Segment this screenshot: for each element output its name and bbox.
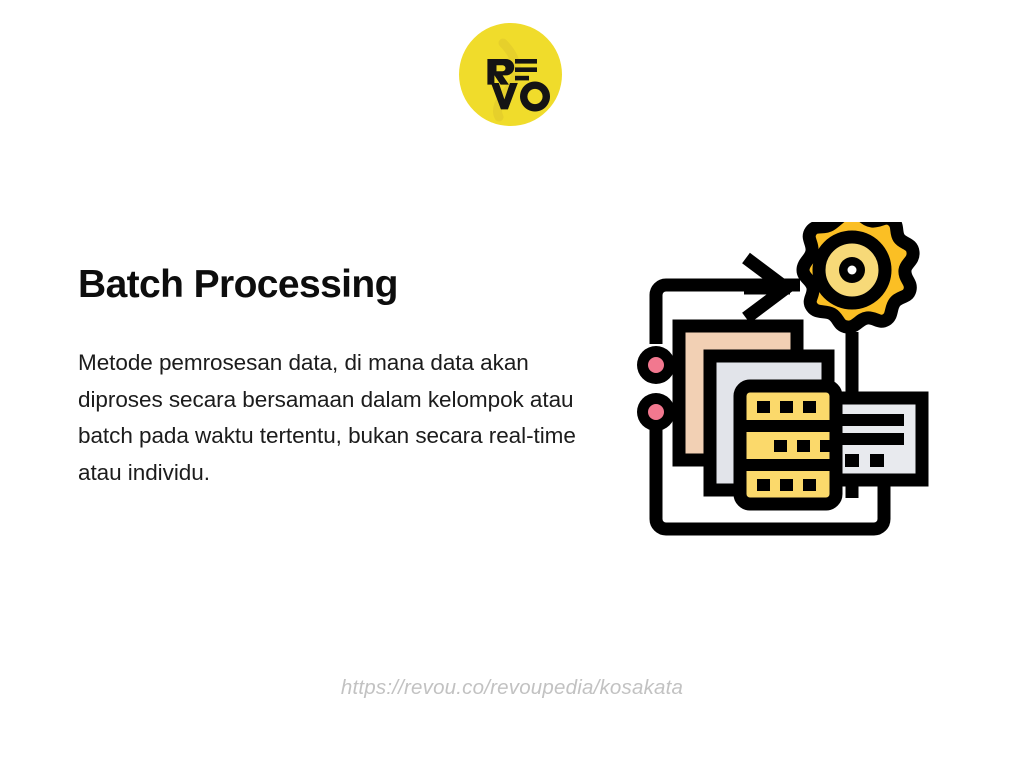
page-description: Metode pemrosesan data, di mana data aka… <box>78 345 608 491</box>
server-rack <box>740 386 836 504</box>
server-lights-row-3 <box>757 479 816 491</box>
batch-processing-illustration <box>624 222 960 544</box>
logo-circle <box>459 23 562 126</box>
footer-url[interactable]: https://revou.co/revoupedia/kosakata <box>0 676 1024 700</box>
text-column: Batch Processing Metode pemrosesan data,… <box>78 262 608 491</box>
server-lights-row-2 <box>774 440 833 452</box>
server-lights-row-1 <box>757 401 816 413</box>
arrow-icon <box>744 258 790 318</box>
page-title: Batch Processing <box>78 262 608 307</box>
gear-center-hole <box>848 266 857 275</box>
indicator-dot-bottom <box>637 393 675 431</box>
indicator-dot-top <box>637 346 675 384</box>
gear-icon <box>803 222 913 327</box>
revou-logo <box>459 23 562 126</box>
